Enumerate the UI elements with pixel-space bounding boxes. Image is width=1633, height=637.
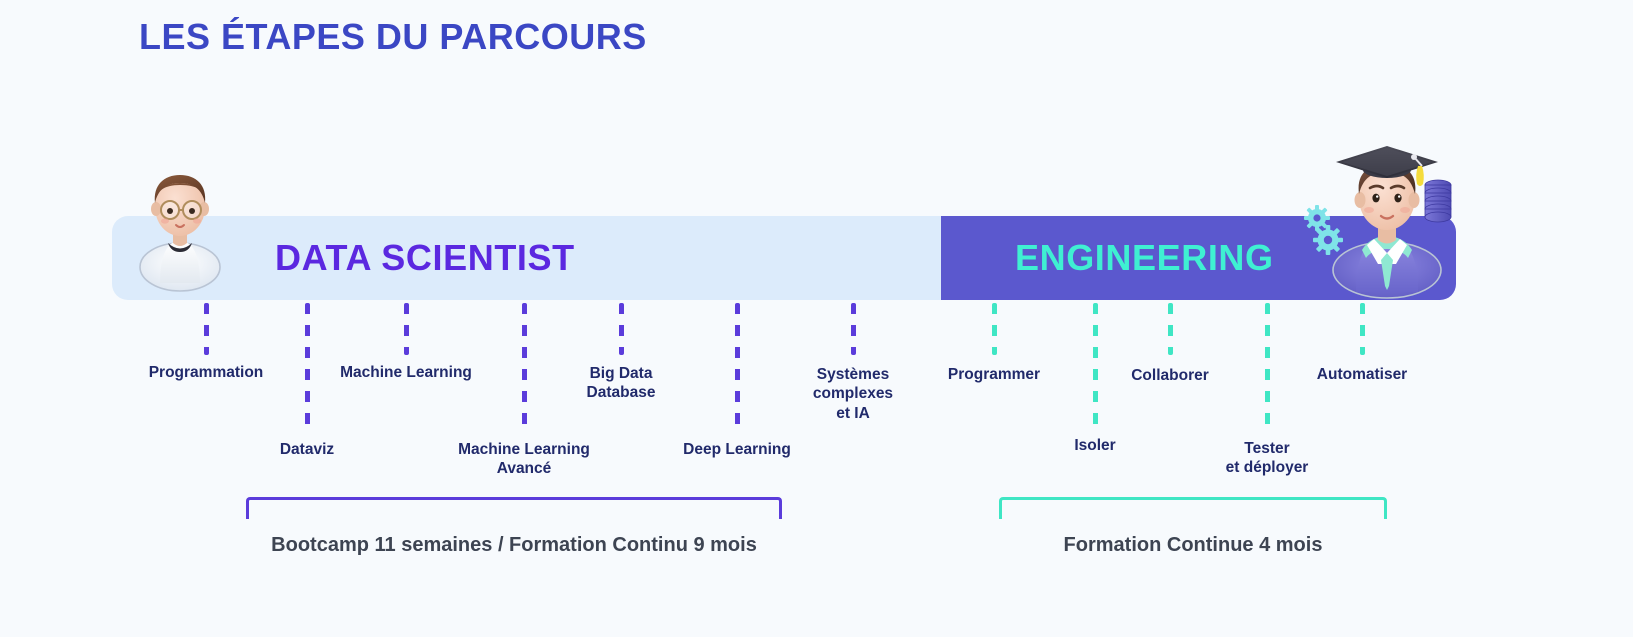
career-track-banner: DATA SCIENTIST ENGINEERING xyxy=(112,216,1456,300)
connector-isoler xyxy=(1093,303,1098,431)
bracket-data-scientist xyxy=(246,497,782,519)
step-label-dataviz: Dataviz xyxy=(280,440,334,459)
step-label-deep-learning: Deep Learning xyxy=(683,440,791,459)
step-label-big-data-database: Big Data Database xyxy=(587,364,656,403)
step-label-programmer: Programmer xyxy=(948,365,1040,384)
connector-big-data-database xyxy=(619,303,624,355)
banner-label-engineering: ENGINEERING xyxy=(1015,237,1274,279)
step-label-machine-learning: Machine Learning xyxy=(340,363,472,382)
connector-machine-learning xyxy=(404,303,409,355)
step-label-isoler: Isoler xyxy=(1074,436,1115,455)
gears-icon xyxy=(1300,200,1350,260)
connector-dataviz xyxy=(305,303,310,431)
infographic-root: LES ÉTAPES DU PARCOURS DATA SCIENTIST EN… xyxy=(0,0,1633,637)
step-label-systemes-complexes-et-ia: Systèmes complexes et IA xyxy=(813,365,893,423)
connector-collaborer xyxy=(1168,303,1173,355)
connector-systemes-complexes xyxy=(851,303,856,355)
connector-deep-learning xyxy=(735,303,740,431)
bracket-caption-data-scientist: Bootcamp 11 semaines / Formation Continu… xyxy=(271,534,757,557)
page-title: LES ÉTAPES DU PARCOURS xyxy=(139,16,647,58)
bracket-caption-engineering: Formation Continue 4 mois xyxy=(1064,534,1323,557)
connector-programmation xyxy=(204,303,209,355)
connector-automatiser xyxy=(1360,303,1365,355)
step-label-tester-et-deployer: Tester et déployer xyxy=(1226,439,1309,478)
scientist-avatar-icon xyxy=(130,155,230,295)
connector-machine-learning-avance xyxy=(522,303,527,431)
step-label-automatiser: Automatiser xyxy=(1317,365,1407,384)
step-label-machine-learning-avance: Machine Learning Avancé xyxy=(458,440,590,479)
connector-programmer xyxy=(992,303,997,355)
step-label-programmation: Programmation xyxy=(149,363,264,382)
step-label-collaborer: Collaborer xyxy=(1131,366,1209,385)
banner-segment-data-scientist: DATA SCIENTIST xyxy=(112,216,941,300)
connector-tester-et-deployer xyxy=(1265,303,1270,431)
banner-label-data-scientist: DATA SCIENTIST xyxy=(275,237,575,279)
book-stack-icon xyxy=(1418,176,1458,226)
bracket-engineering xyxy=(999,497,1387,519)
